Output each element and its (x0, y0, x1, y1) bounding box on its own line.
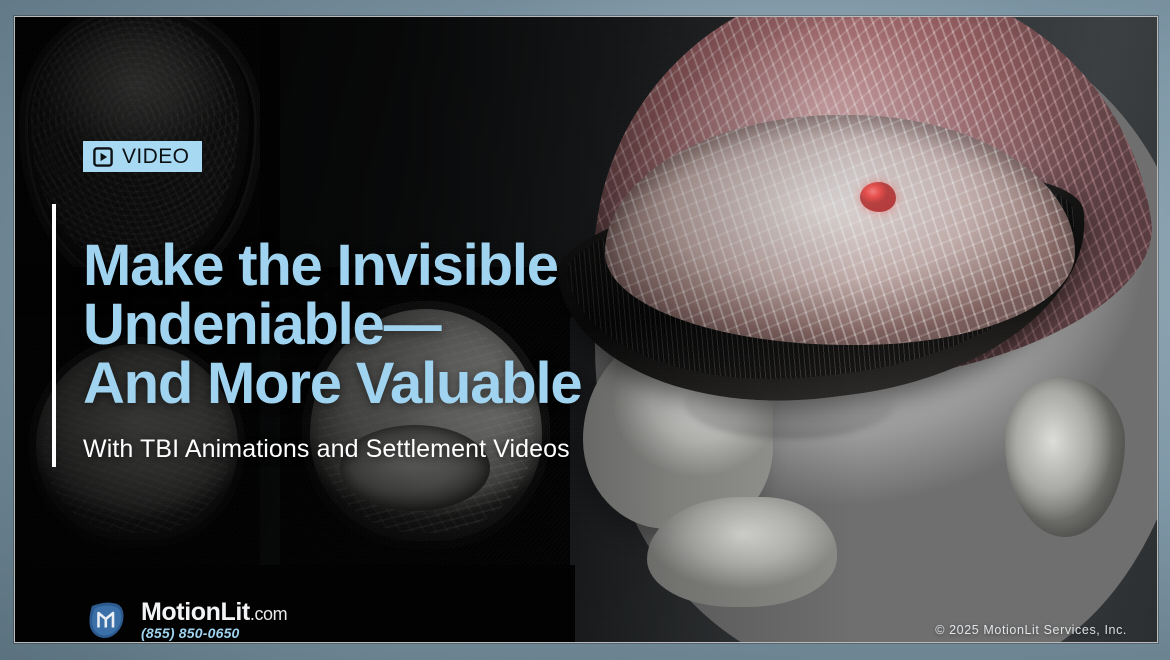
video-badge: VIDEO (83, 141, 202, 172)
headline-line-3: And More Valuable (83, 354, 723, 413)
logo-wordmark: MotionLit.com (141, 600, 287, 625)
logo-phone: (855) 850-0650 (141, 626, 287, 640)
artwork-frame: VIDEO Make the Invisible Undeniable— And… (14, 16, 1158, 643)
video-thumbnail-slide: VIDEO Make the Invisible Undeniable— And… (0, 0, 1170, 660)
content-layer: VIDEO Make the Invisible Undeniable— And… (15, 17, 1157, 642)
logo-name: MotionLit (141, 598, 250, 626)
logo-tld: .com (250, 604, 287, 624)
headline-line-1: Make the Invisible (83, 236, 723, 295)
video-badge-label: VIDEO (122, 146, 189, 167)
accent-rule (52, 204, 56, 467)
brand-logo[interactable]: MotionLit.com (855) 850-0650 (83, 597, 287, 643)
motionlit-shield-icon (83, 597, 129, 643)
logo-text-block: MotionLit.com (855) 850-0650 (141, 600, 287, 640)
subtitle: With TBI Animations and Settlement Video… (83, 435, 783, 464)
video-play-icon (93, 147, 113, 167)
headline-line-2: Undeniable— (83, 295, 723, 354)
page-title: Make the Invisible Undeniable— And More … (83, 236, 723, 413)
copyright-notice: © 2025 MotionLit Services, Inc. (935, 623, 1127, 637)
